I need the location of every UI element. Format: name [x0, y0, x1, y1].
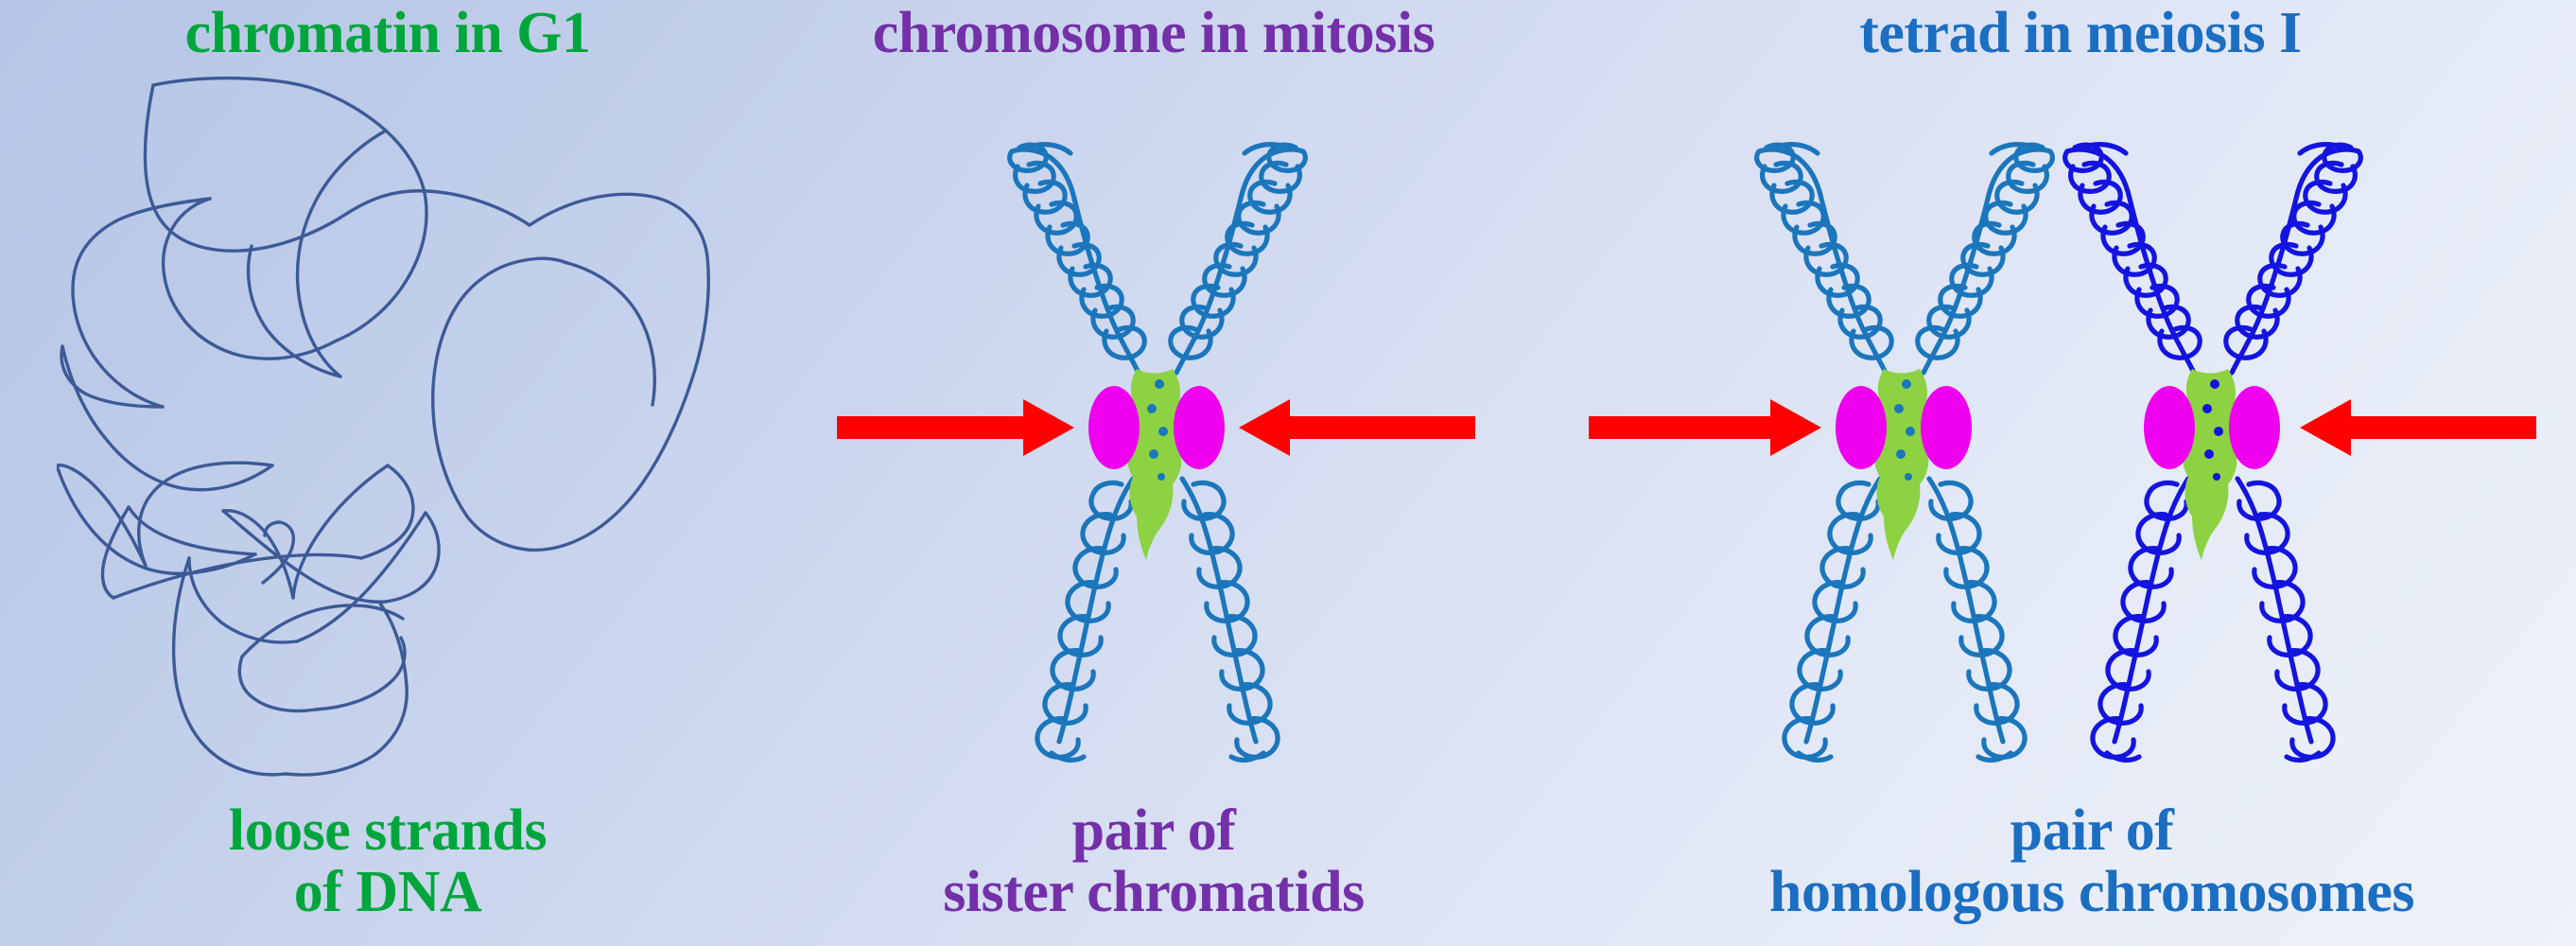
chromatin-strand-group [57, 79, 708, 775]
centromere-region [1088, 369, 1225, 560]
caption-line: of DNA [0, 862, 775, 923]
chromatid-arm-lower-right [1929, 479, 2025, 760]
kinetochore-dot-left [1088, 386, 1140, 469]
kinetochore-dot-right [1921, 386, 1972, 469]
panel-title-chromatin: chromatin in G1 [0, 4, 775, 63]
homolog-chromosome-left [1757, 145, 2053, 761]
chromatid-arm-lower-right [1182, 479, 1278, 760]
chromatid-arm-upper-right [1171, 145, 1306, 373]
kinetochore-dot-left [2144, 386, 2195, 469]
chromatid-arm-upper-left [2065, 145, 2201, 373]
chromatid-arm-upper-right [1918, 145, 2053, 373]
figure-canvas: chromatin in G1 [0, 0, 2576, 946]
homolog-chromosome-right [2065, 145, 2361, 761]
panel-title-chromosome: chromosome in mitosis [757, 4, 1551, 63]
panel-caption-chromatin: loose strands of DNA [0, 800, 775, 923]
chromatid-arm-upper-right [2226, 145, 2361, 373]
pointer-arrow-left [837, 399, 1074, 456]
chromatid-arm-lower-right [2237, 479, 2333, 760]
chromatin-tangle-illustration [57, 57, 719, 804]
caption-line: sister chromatids [757, 862, 1551, 923]
kinetochore-dot-right [2229, 386, 2280, 469]
meiotic-tetrad-illustration [1570, 57, 2563, 804]
panel-caption-chromosome: pair of sister chromatids [757, 800, 1551, 923]
chromatid-arm-lower-left [1037, 479, 1133, 760]
mitotic-chromosome-illustration [785, 57, 1532, 804]
caption-line: pair of [757, 800, 1551, 862]
caption-line: loose strands [0, 800, 775, 862]
chromatid-arm-upper-left [1757, 145, 1892, 373]
chromatid-arm-upper-left [1010, 145, 1145, 373]
pointer-arrow-right [2300, 399, 2536, 456]
centromere-region-left [1836, 369, 1972, 560]
kinetochore-dot-left [1836, 386, 1887, 469]
panel-caption-tetrad: pair of homologous chromosomes [1608, 800, 2576, 923]
caption-line: homologous chromosomes [1608, 862, 2576, 923]
pointer-arrow-left [1589, 399, 1821, 456]
centromere-region-right [2144, 369, 2280, 560]
kinetochore-dot-right [1174, 386, 1225, 469]
pointer-arrow-right [1239, 399, 1475, 456]
panel-title-tetrad: tetrad in meiosis I [1664, 4, 2497, 63]
caption-line: pair of [1608, 800, 2576, 862]
chromatid-arm-lower-left [2093, 479, 2188, 760]
chromatid-arm-lower-left [1784, 479, 1880, 760]
